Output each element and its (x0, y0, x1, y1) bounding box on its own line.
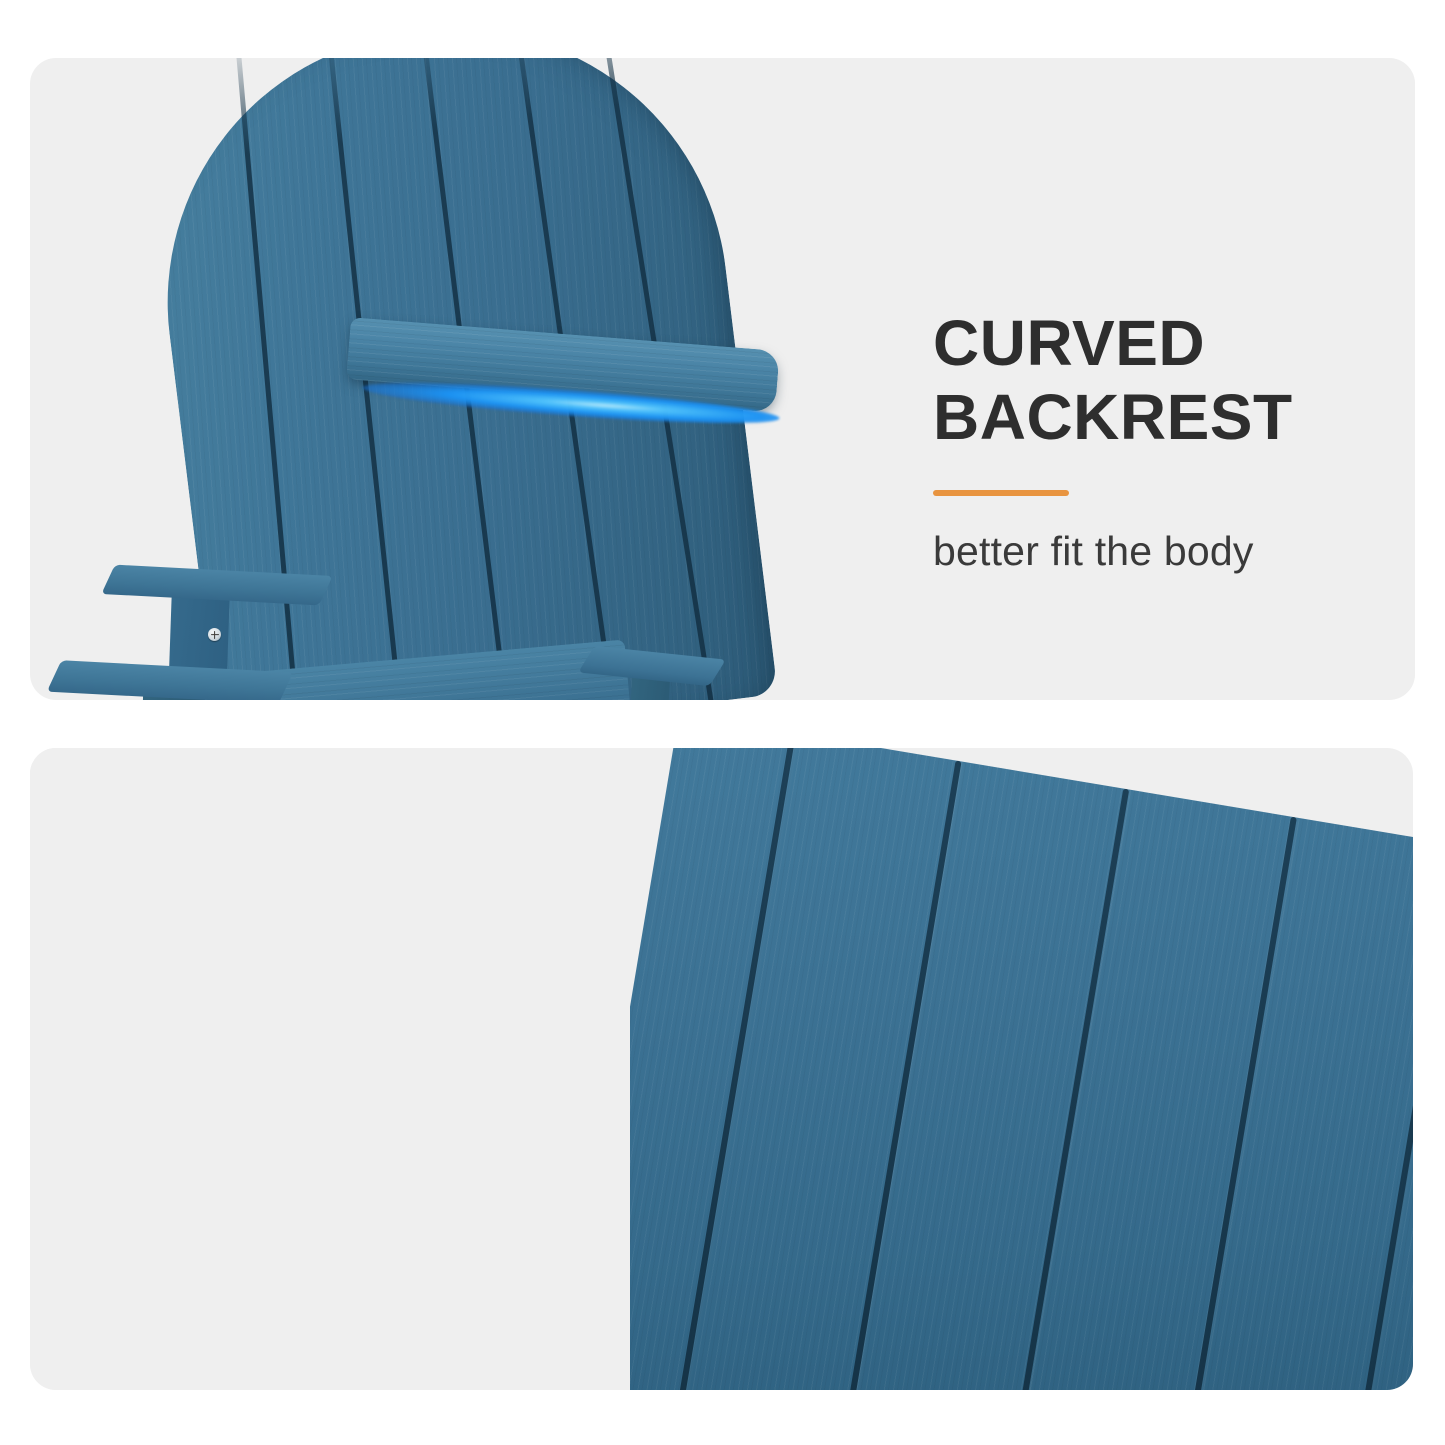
feature-panel-wide-armrests: WIDE ARMRESTS for better arm relaxation (30, 748, 1413, 1390)
product-photo-wide-armrests (30, 748, 1413, 1390)
accent-divider (933, 490, 1069, 496)
feature-headline: CURVED BACKREST (933, 306, 1293, 454)
feature-copy-curved-backrest: CURVED BACKREST better fit the body (933, 306, 1293, 575)
screw-icon (208, 628, 221, 641)
photo-left-block-mask (30, 748, 630, 1390)
feature-subline: better fit the body (933, 528, 1293, 575)
product-feature-page: CURVED BACKREST better fit the body (0, 0, 1445, 1445)
feature-panel-curved-backrest: CURVED BACKREST better fit the body (30, 58, 1415, 700)
